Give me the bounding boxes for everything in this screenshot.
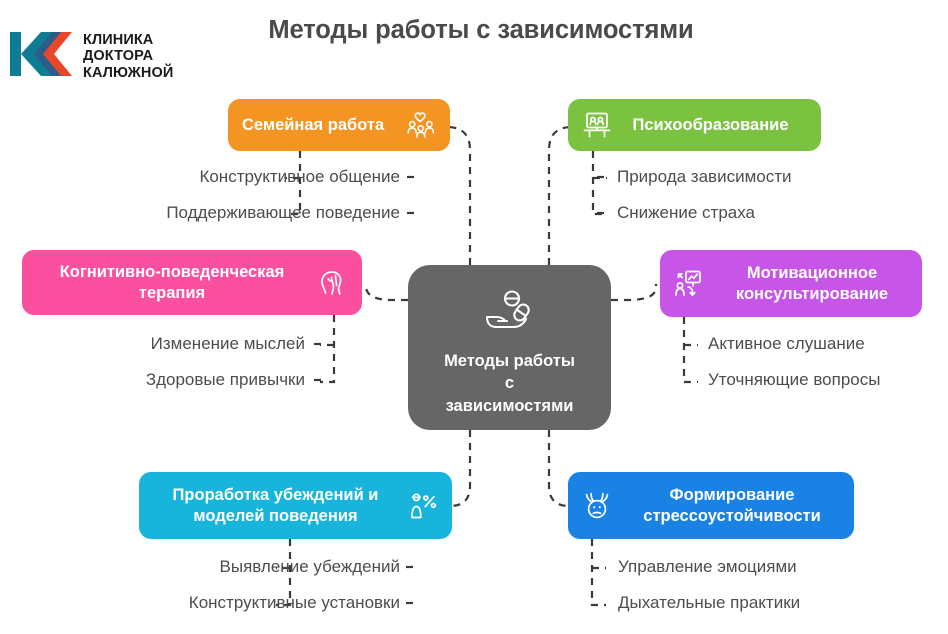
- stressed-face-icon: [582, 491, 614, 521]
- branch-label-family: Семейная работа: [242, 115, 396, 135]
- branch-card-stress[interactable]: Формирование стрессоустойчивости: [568, 472, 854, 539]
- branch-label-cbt-line-2: терапия: [139, 284, 205, 302]
- logo-mark-icon: [8, 28, 74, 85]
- page-title: Методы работы с зависимостями: [228, 16, 734, 45]
- branch-label-stress-line-2: стрессоустойчивости: [643, 507, 820, 525]
- branch-label-beliefs-line-2: моделей поведения: [193, 507, 357, 525]
- infographic-canvas: КЛИНИКА ДОКТОРА КАЛЮЖНОЙ Методы работы с…: [0, 0, 948, 634]
- leaf-psychoeducation-0: Природа зависимости: [617, 168, 917, 185]
- leaf-family-0: Конструктивное общение: [100, 168, 400, 185]
- logo-line-1: КЛИНИКА: [83, 32, 173, 48]
- leaf-beliefs-1: Конструктивные установки: [55, 594, 400, 611]
- center-node-line-3: зависимостями: [444, 395, 575, 417]
- leaf-stress-1: Дыхательные практики: [618, 594, 938, 611]
- family-heart-icon: [406, 111, 436, 139]
- person-chart-growth-icon: [674, 269, 706, 299]
- leaf-stress-0: Управление эмоциями: [618, 558, 938, 575]
- leaf-beliefs-0: Выявление убеждений: [55, 558, 400, 575]
- logo-line-3: КАЛЮЖНОЙ: [83, 65, 173, 81]
- center-node: Методы работы с зависимостями: [408, 265, 611, 430]
- leaf-cbt-1: Здоровые привычки: [20, 371, 305, 388]
- branch-label-motivational: Мотивационное консультирование: [716, 263, 908, 303]
- person-percent-icon: [408, 491, 438, 521]
- leaf-cbt-0: Изменение мыслей: [20, 335, 305, 352]
- branch-card-cbt[interactable]: Когнитивно-поведенческая терапия: [22, 250, 362, 315]
- branch-label-beliefs: Проработка убеждений и моделей поведения: [153, 485, 398, 525]
- clinic-logo: КЛИНИКА ДОКТОРА КАЛЮЖНОЙ: [8, 28, 173, 85]
- leaf-psychoeducation-1: Снижение страха: [617, 204, 917, 221]
- center-node-line-2: с: [444, 372, 575, 394]
- head-mind-icon: [318, 268, 348, 298]
- branch-label-motivational-line-1: Мотивационное: [747, 264, 877, 282]
- presentation-board-icon: [582, 111, 612, 139]
- branch-label-motivational-line-2: консультирование: [736, 285, 888, 303]
- leaf-motivational-1: Уточняющие вопросы: [708, 371, 948, 388]
- leaf-family-1: Поддерживающее поведение: [100, 204, 400, 221]
- branch-label-stress: Формирование стрессоустойчивости: [624, 485, 840, 525]
- logo-wordmark: КЛИНИКА ДОКТОРА КАЛЮЖНОЙ: [83, 32, 173, 81]
- hand-holding-pills-icon: [481, 289, 539, 338]
- branch-label-psychoeducation: Психообразование: [622, 115, 807, 135]
- center-node-line-1: Методы работы: [444, 350, 575, 372]
- branch-label-cbt-line-1: Когнитивно-поведенческая: [60, 263, 285, 281]
- branch-label-stress-line-1: Формирование: [670, 486, 795, 504]
- branch-card-psychoeducation[interactable]: Психообразование: [568, 99, 821, 151]
- branch-label-cbt: Когнитивно-поведенческая терапия: [36, 262, 308, 302]
- center-node-label: Методы работы с зависимостями: [432, 350, 587, 417]
- logo-line-2: ДОКТОРА: [83, 48, 173, 64]
- branch-card-family[interactable]: Семейная работа: [228, 99, 450, 151]
- leaf-motivational-0: Активное слушание: [708, 335, 948, 352]
- branch-label-beliefs-line-1: Проработка убеждений и: [173, 486, 379, 504]
- branch-card-beliefs[interactable]: Проработка убеждений и моделей поведения: [139, 472, 452, 539]
- branch-card-motivational[interactable]: Мотивационное консультирование: [660, 250, 922, 317]
